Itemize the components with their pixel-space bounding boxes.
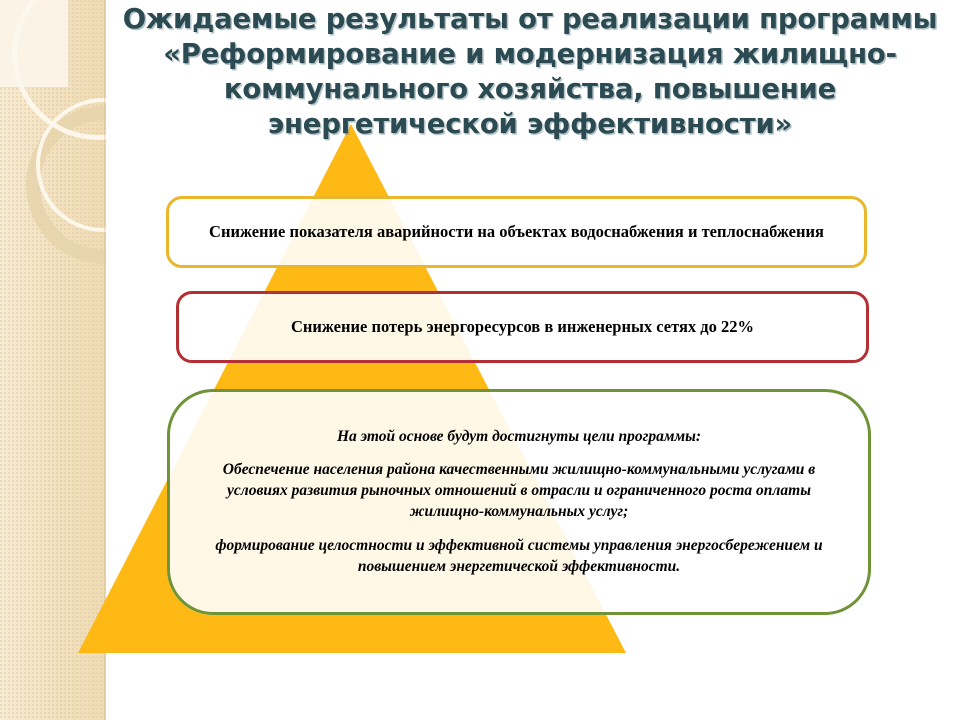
box-availability[interactable]: Снижение показателя аварийности на объек…	[166, 196, 867, 268]
box-goals-content: На этой основе будут достигнуты цели про…	[170, 427, 868, 577]
box-goals-paragraph-2: формирование целостности и эффективной с…	[196, 535, 842, 577]
slide-title: Ожидаемые результаты от реализации прогр…	[104, 2, 956, 142]
box-goals[interactable]: На этой основе будут достигнуты цели про…	[167, 389, 871, 615]
box-availability-text: Снижение показателя аварийности на объек…	[169, 221, 864, 243]
decorative-sidebar	[0, 0, 106, 720]
box-energy-loss-text: Снижение потерь энергоресурсов в инженер…	[179, 316, 866, 338]
slide-canvas: Ожидаемые результаты от реализации прогр…	[0, 0, 960, 720]
box-goals-heading: На этой основе будут достигнуты цели про…	[196, 427, 842, 447]
box-energy-loss[interactable]: Снижение потерь энергоресурсов в инженер…	[176, 291, 869, 363]
box-goals-paragraph-1: Обеспечение населения района качественны…	[196, 459, 842, 522]
